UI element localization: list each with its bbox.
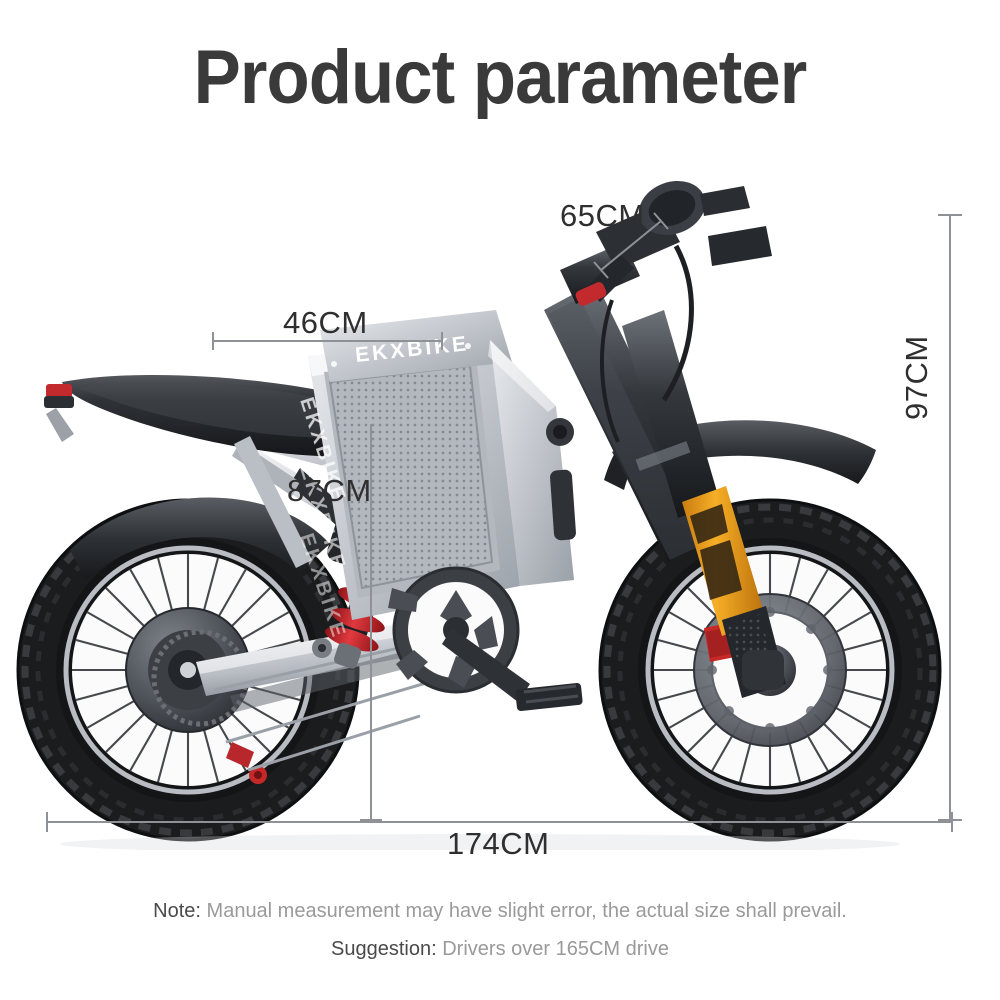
dimension-label-65cm: 65CM <box>560 198 645 234</box>
product-parameter-page: Product parameter <box>0 0 1000 1000</box>
dimension-label-87cm: 87CM <box>287 473 372 509</box>
dimension-label-46cm: 46CM <box>283 305 368 341</box>
dimension-label-174cm: 174CM <box>447 826 549 862</box>
note-line: Note: Manual measurement may have slight… <box>0 900 1000 923</box>
dimension-label-97cm: 97CM <box>899 335 935 420</box>
suggestion-line: Suggestion: Drivers over 165CM drive <box>0 938 1000 961</box>
suggestion-label: Suggestion: <box>331 938 437 960</box>
crankset <box>388 568 583 711</box>
page-title: Product parameter <box>35 34 965 121</box>
note-text: Manual measurement may have slight error… <box>207 900 847 922</box>
suggestion-text: Drivers over 165CM drive <box>442 938 669 960</box>
note-label: Note: <box>153 900 201 922</box>
product-image: EKXBIKE EKXBIKE EKXBIKE EKXBIKE <box>0 150 1000 850</box>
